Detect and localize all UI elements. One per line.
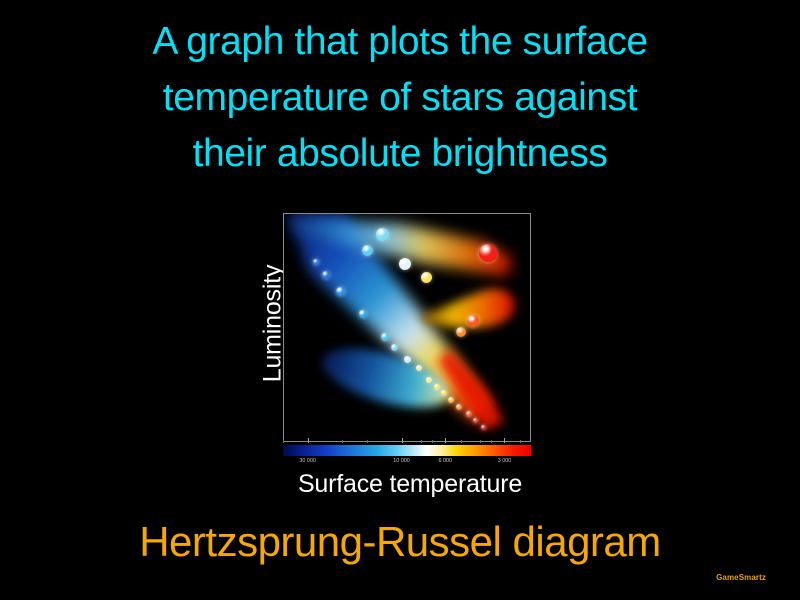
x-axis-minor-tick xyxy=(491,440,492,443)
y-axis-minor-tick xyxy=(283,390,284,391)
y-axis-minor-tick xyxy=(283,216,284,217)
y-axis-minor-tick xyxy=(283,291,284,292)
star-marker xyxy=(376,228,389,241)
x-axis-tick-label: 3 000 xyxy=(498,458,512,465)
y-axis-minor-tick xyxy=(283,348,284,349)
star-marker xyxy=(359,310,367,318)
y-axis-minor-tick xyxy=(283,341,284,342)
x-axis-minor-tick xyxy=(421,440,422,443)
y-axis-minor-tick xyxy=(283,254,284,255)
star-marker xyxy=(479,244,497,262)
y-axis-minor-tick xyxy=(283,310,284,311)
star-marker xyxy=(473,418,478,423)
star-marker xyxy=(434,384,440,390)
star-marker xyxy=(456,404,462,410)
y-axis-minor-tick xyxy=(283,360,284,361)
y-axis-minor-tick xyxy=(283,246,284,247)
y-axis-minor-tick xyxy=(283,329,284,330)
y-axis-minor-tick xyxy=(283,284,284,285)
x-axis-tick-label: 10 000 xyxy=(393,458,410,465)
x-axis-tick-label: 6 000 xyxy=(438,458,452,465)
x-axis-minor-tick xyxy=(367,440,368,443)
x-axis-minor-tick xyxy=(342,440,343,443)
hr-diagram-figure: Luminosity xyxy=(220,205,580,505)
star-marker xyxy=(322,271,330,279)
slide-root: A graph that plots the surface temperatu… xyxy=(0,0,800,600)
star-marker xyxy=(426,377,432,383)
y-axis-minor-tick xyxy=(283,322,284,323)
y-axis-minor-tick xyxy=(283,295,284,296)
y-axis-minor-tick xyxy=(283,367,284,368)
y-axis-minor-tick xyxy=(283,416,284,417)
watermark-label: GameSmartz xyxy=(716,573,766,582)
x-axis-tick xyxy=(445,438,446,443)
y-axis-minor-tick xyxy=(283,424,284,425)
y-axis-minor-tick xyxy=(283,409,284,410)
x-axis-tick xyxy=(402,438,403,443)
y-axis-minor-tick xyxy=(283,397,284,398)
star-marker xyxy=(466,411,472,417)
definition-text: A graph that plots the surface temperatu… xyxy=(0,14,800,182)
x-axis-minor-tick xyxy=(520,440,521,443)
star-marker xyxy=(467,315,479,327)
x-axis-tick xyxy=(308,438,309,443)
y-axis-minor-tick xyxy=(283,227,284,228)
star-marker xyxy=(456,327,466,337)
temperature-colorbar xyxy=(283,445,531,456)
star-marker xyxy=(416,365,422,371)
y-axis-minor-tick xyxy=(283,235,284,236)
y-axis-minor-tick xyxy=(283,220,284,221)
y-axis-minor-tick xyxy=(283,333,284,334)
y-axis-minor-tick xyxy=(283,258,284,259)
y-axis-minor-tick xyxy=(283,276,284,277)
y-axis-minor-tick xyxy=(283,273,284,274)
plot-area: 10610510410310210110-110-210-310-410-510… xyxy=(283,213,531,442)
plot-canvas xyxy=(284,214,530,441)
x-axis-title: Surface temperature xyxy=(250,470,570,499)
star-marker xyxy=(381,333,389,341)
star-marker xyxy=(313,259,319,265)
term-title: Hertzsprung-Russel diagram xyxy=(0,516,800,568)
x-axis-minor-tick xyxy=(283,440,284,443)
x-axis-tick xyxy=(504,438,505,443)
y-axis-minor-tick xyxy=(283,405,284,406)
y-axis-minor-tick xyxy=(283,435,284,436)
star-marker xyxy=(391,344,398,351)
y-axis-minor-tick xyxy=(283,239,284,240)
star-marker xyxy=(481,425,486,430)
y-axis-minor-tick xyxy=(283,386,284,387)
star-marker xyxy=(421,272,432,283)
x-axis-minor-tick xyxy=(480,440,481,443)
y-axis-minor-tick xyxy=(283,428,284,429)
star-marker xyxy=(362,245,373,256)
y-axis-minor-tick xyxy=(283,371,284,372)
star-marker xyxy=(336,287,345,296)
y-axis-minor-tick xyxy=(283,265,284,266)
y-axis-minor-tick xyxy=(283,303,284,304)
x-axis-minor-tick xyxy=(432,440,433,443)
x-axis-minor-tick xyxy=(461,440,462,443)
star-marker xyxy=(448,397,454,403)
x-axis-tick-label: 30 000 xyxy=(299,458,316,465)
star-marker xyxy=(404,356,411,363)
star-marker xyxy=(399,258,411,270)
star-marker xyxy=(441,390,447,396)
y-axis-minor-tick xyxy=(283,379,284,380)
y-axis-minor-tick xyxy=(283,352,284,353)
y-axis-minor-tick xyxy=(283,314,284,315)
